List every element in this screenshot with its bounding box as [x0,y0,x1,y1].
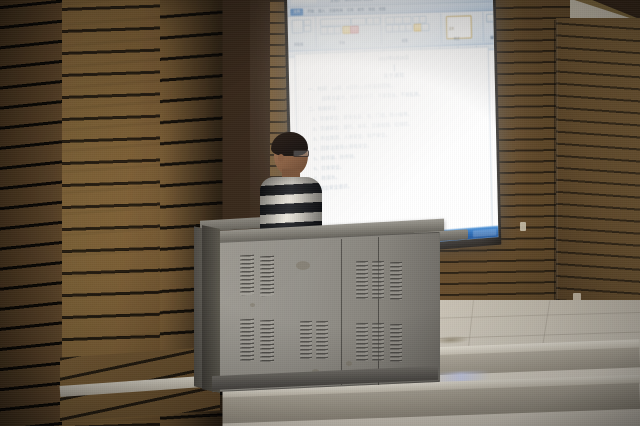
cabinet-vent-louver [372,261,384,300]
cabinet-vent-louver [356,323,368,362]
tab-review[interactable]: 审阅 [368,7,375,12]
group-label-clipboard: 剪贴板 [294,41,304,46]
style-normal-label: 正文 [449,26,454,30]
cabinet-vent-louver [300,321,312,360]
borders-icon[interactable] [421,23,430,31]
cabinet-scuff [296,261,310,270]
word-title-text: 文档1 - Microsoft Word [330,0,373,3]
group-label-paragraph: 段落 [402,38,408,43]
group-label-styles: 样式 [454,36,460,41]
copy-icon[interactable] [303,25,311,32]
wall-outlet-upper [520,222,526,231]
ribbon-group-paragraph[interactable]: 段落 [382,13,442,45]
tab-view[interactable]: 视图 [379,7,386,12]
lectern-cabinet-left-panel [202,225,220,393]
tab-page-layout[interactable]: 页面布局 [329,8,343,13]
cabinet-scuff [346,361,352,366]
font-size-select[interactable] [351,18,366,26]
quick-access-toolbar[interactable] [291,0,317,4]
ribbon-group-styles[interactable]: 正文 样式 [442,12,484,43]
document-date-line: 2017年5月25日 [307,53,477,66]
cabinet-vent-louver [260,320,274,363]
presenter-ear [278,154,284,162]
tab-mailings[interactable]: 邮件 [357,7,364,12]
glasses-icon [293,150,309,157]
left-wall-wood-slats-shadow [0,0,62,426]
cabinet-door-seam [341,239,342,385]
tab-insert[interactable]: 插入 [318,8,325,13]
tab-file[interactable]: 文件 [290,8,303,15]
text-cursor [393,65,394,72]
font-color-icon[interactable] [350,26,359,34]
cabinet-vent-louver [240,255,254,296]
cabinet-vent-louver [260,256,274,297]
cabinet-door-seam [378,237,379,385]
find-icon[interactable] [486,14,494,23]
cabinet-vent-louver [372,323,384,362]
tab-references[interactable]: 引用 [347,8,354,13]
ribbon-group-font[interactable]: 字体 [317,15,382,48]
ribbon-group-editing[interactable]: 编辑 [484,11,494,41]
tab-home[interactable]: 开始 [307,9,314,14]
group-label-editing: 编辑 [490,35,494,40]
paste-icon[interactable] [292,19,304,33]
lectern [196,213,468,393]
cabinet-vent-louver [316,321,328,360]
ribbon-group-clipboard[interactable]: 剪贴板 [290,17,317,49]
justify-icon[interactable] [405,24,413,32]
cabinet-vent-louver [240,319,254,362]
cabinet-vent-louver [356,261,368,300]
right-wall-wood-slats [556,18,640,348]
cabinet-scuff [250,303,255,307]
group-label-font: 字体 [339,40,345,45]
shrink-font-icon[interactable] [373,17,381,25]
cabinet-vent-louver [390,324,402,363]
cabinet-vent-louver [390,262,402,301]
system-tray[interactable] [473,229,497,238]
underline-icon[interactable] [334,26,342,34]
lecture-hall-photo: 文档1 - Microsoft Word 文件 开始 插入 页面布局 引用 邮件… [0,0,640,426]
